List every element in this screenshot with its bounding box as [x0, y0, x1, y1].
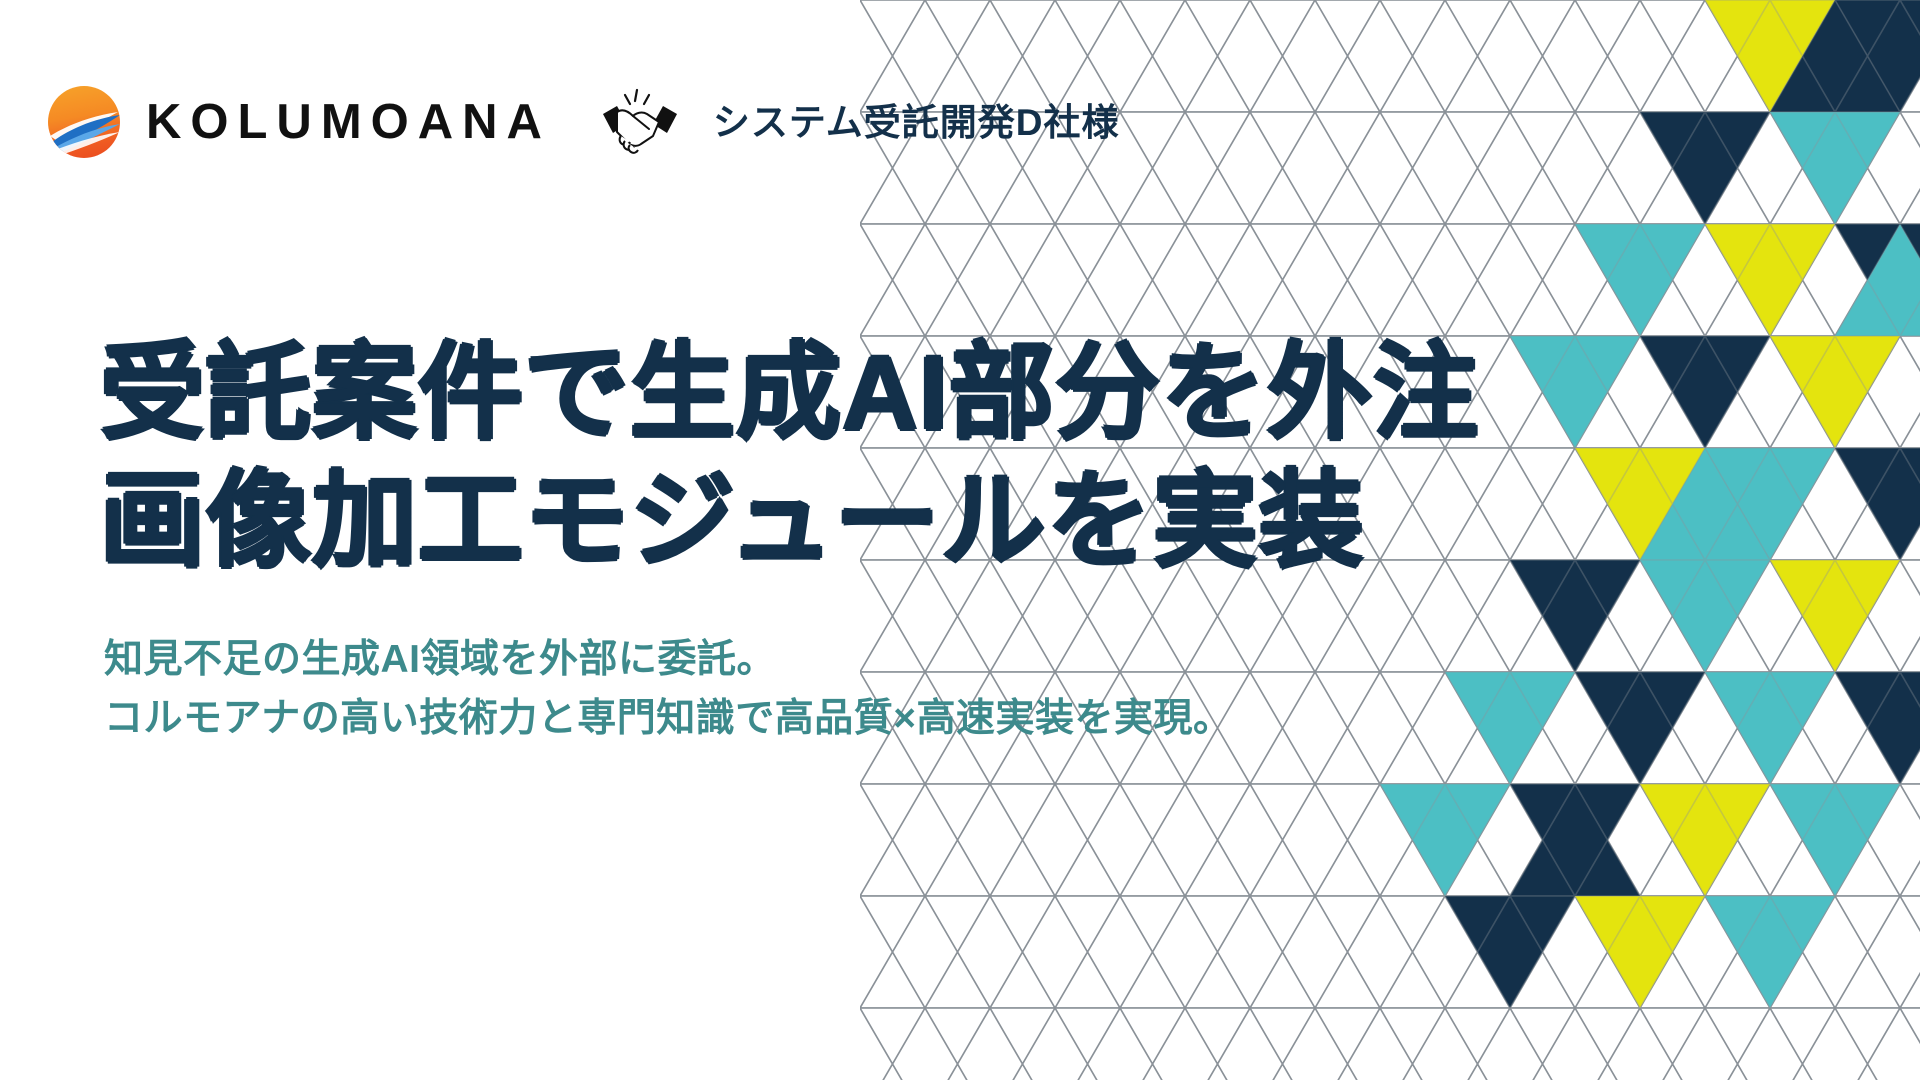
sun-wave-logo-icon	[48, 86, 120, 158]
headline-line-1: 受託案件で生成AI部分を外注	[100, 330, 1479, 458]
subtitle-line-2: コルモアナの高い技術力と専門知識で高品質×高速実装を実現。	[104, 689, 1233, 748]
handshake-icon	[597, 86, 683, 158]
promo-banner: KOLUMOANA システム受託開発D社様	[0, 0, 1920, 1080]
headline-line-2: 画像加工モジュールを実装	[100, 458, 1479, 586]
brand-header: KOLUMOANA システム受託開発D社様	[48, 86, 1120, 158]
subtitle-line-1: 知見不足の生成AI領域を外部に委託。	[104, 630, 1233, 689]
headline: 受託案件で生成AI部分を外注 画像加工モジュールを実装	[100, 330, 1479, 586]
client-company-name: システム受託開発D社様	[713, 104, 1120, 141]
subtitle: 知見不足の生成AI領域を外部に委託。 コルモアナの高い技術力と専門知識で高品質×…	[104, 630, 1233, 749]
brand-wordmark: KOLUMOANA	[146, 98, 551, 147]
